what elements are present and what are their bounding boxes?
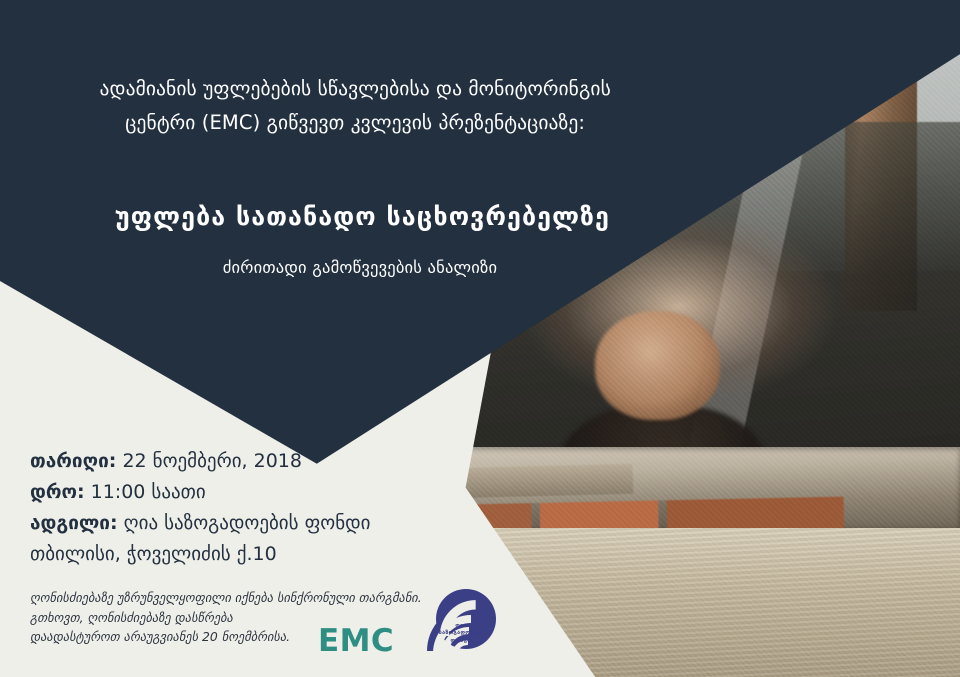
footnote-line-1: ღონისძიებაზე უზრუნველყოფილი იქნება სინქრ…	[30, 588, 422, 608]
emc-logo: EMC	[318, 626, 394, 657]
osgf-arcs-icon	[423, 583, 497, 659]
invitation-text: ადამიანის უფლებების სწავლებისა და მონიტო…	[0, 72, 710, 140]
detail-row-place: ადგილი: ღია საზოგადოების ფონდი	[30, 508, 371, 539]
detail-value-place: ღია საზოგადოების ფონდი	[124, 512, 371, 534]
invitation-line-2: ცენტრი (EMC) გიწვევთ კვლევის პრეზენტაცია…	[0, 106, 710, 140]
detail-row-time: დრო: 11:00 საათი	[30, 477, 371, 508]
detail-label-date: თარიღი:	[30, 450, 116, 472]
osgf-logo: ღია საზოგადოების ფონდი	[423, 583, 497, 659]
osgf-text-line-1: ღია	[433, 623, 489, 630]
poster-canvas: ადამიანის უფლებების სწავლებისა და მონიტო…	[0, 0, 960, 677]
event-details: თარიღი: 22 ნოემბერი, 2018 დრო: 11:00 საა…	[30, 446, 371, 570]
osgf-text-line-2: საზოგადოების	[433, 630, 489, 637]
detail-value-time: 11:00 საათი	[91, 481, 206, 503]
osgf-text-line-3: ფონდი	[433, 638, 489, 645]
event-title: უფლება სათანადო საცხოვრებელზე	[0, 200, 725, 234]
event-subtitle: ძირითადი გამოწვევების ანალიზი	[0, 255, 720, 281]
osgf-logo-text: ღია საზოგადოების ფონდი	[433, 623, 489, 645]
detail-label-place: ადგილი:	[30, 512, 118, 534]
detail-label-time: დრო:	[30, 481, 85, 503]
invitation-line-1: ადამიანის უფლებების სწავლებისა და მონიტო…	[0, 72, 710, 106]
detail-value-date: 22 ნოემბერი, 2018	[122, 450, 302, 472]
detail-row-address: თბილისი, ჭოველიძის ქ.10	[30, 539, 371, 570]
detail-row-date: თარიღი: 22 ნოემბერი, 2018	[30, 446, 371, 477]
